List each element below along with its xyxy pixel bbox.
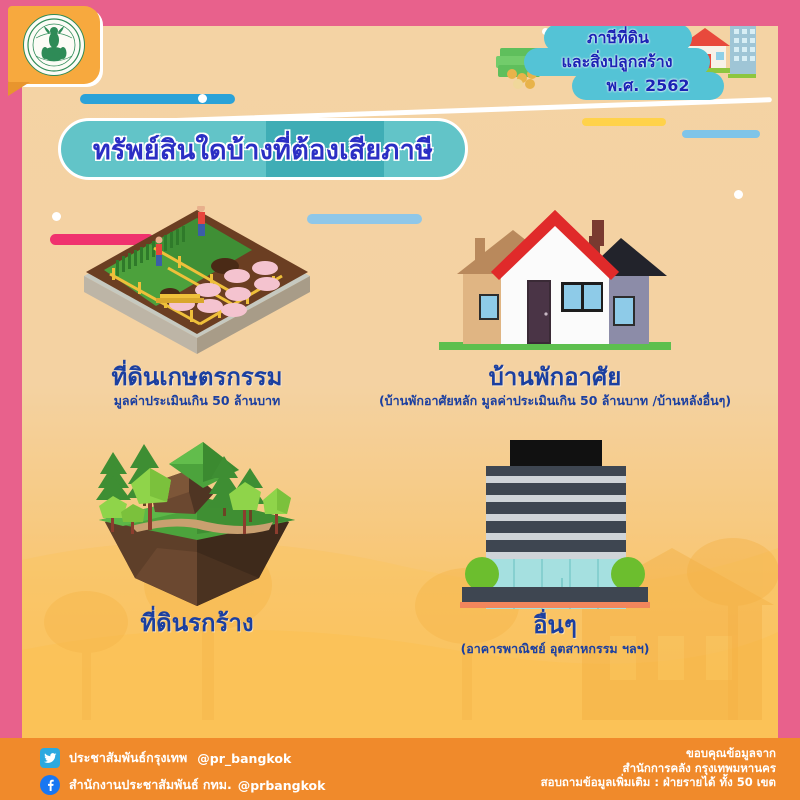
deco-stroke-blue <box>80 94 235 104</box>
bangkok-metropolitan-seal <box>23 14 85 76</box>
asset-label: บ้านพักอาศัย <box>370 364 740 391</box>
frame-right <box>778 0 800 745</box>
deco-dot-4 <box>734 190 743 199</box>
footer-credits: ขอบคุณข้อมูลจาก สำนักการคลัง กรุงเทพมหาน… <box>541 746 776 790</box>
asset-sublabel: (อาคารพาณิชย์ อุตสาหกรรม ฯลฯ) <box>370 641 740 656</box>
asset-item-other-buildings: อื่นๆ (อาคารพาณิชย์ อุตสาหกรรม ฯลฯ) <box>370 430 740 656</box>
asset-sublabel: มูลค่าประเมินเกิน 50 ล้านบาท <box>22 393 382 408</box>
asset-item-agricultural-land: ที่ดินเกษตรกรรม มูลค่าประเมินเกิน 50 ล้า… <box>22 206 382 408</box>
poster-canvas: ภาษีที่ดิน และสิ่งปลูกสร้าง พ.ศ. 2562 ทร… <box>22 0 778 800</box>
twitter-handle: @pr_bangkok <box>197 751 291 766</box>
asset-item-vacant-land: ที่ดินรกร้าง <box>22 430 382 639</box>
act-badge-line3: พ.ศ. 2562 <box>572 72 724 100</box>
deco-stroke-yellow <box>582 118 666 126</box>
house-center <box>491 210 619 344</box>
facebook-account-name: สำนักงานประชาสัมพันธ์ กทม. <box>69 775 232 795</box>
three-houses-illustration <box>370 202 740 364</box>
credit-line-1: ขอบคุณข้อมูลจาก <box>541 746 776 761</box>
office-tower-icon <box>728 24 756 78</box>
main-title-banner: ทรัพย์สินใดบ้างที่ต้องเสียภาษี <box>58 118 468 180</box>
deco-dot-1 <box>198 94 207 103</box>
facebook-handle: @prbangkok <box>238 778 326 793</box>
asset-label: ที่ดินรกร้าง <box>22 610 382 637</box>
footer-facebook-row[interactable]: สำนักงานประชาสัมพันธ์ กทม. @prbangkok <box>40 775 325 795</box>
commercial-building-illustration <box>370 430 740 612</box>
footer-twitter-row[interactable]: ประชาสัมพันธ์กรุงเทพ @pr_bangkok <box>40 748 325 768</box>
footer-social: ประชาสัมพันธ์กรุงเทพ @pr_bangkok สำนักงา… <box>40 748 325 800</box>
asset-items-grid: ที่ดินเกษตรกรรม มูลค่าประเมินเกิน 50 ล้า… <box>22 206 778 706</box>
seal-icon <box>27 18 81 72</box>
facebook-icon <box>40 775 60 795</box>
farmer-1 <box>197 206 205 236</box>
act-badge: ภาษีที่ดิน และสิ่งปลูกสร้าง พ.ศ. 2562 <box>488 22 756 108</box>
twitter-account-name: ประชาสัมพันธ์กรุงเทพ <box>69 748 187 768</box>
page-title: ทรัพย์สินใดบ้างที่ต้องเสียภาษี <box>58 118 468 180</box>
bangkok-logo-tab <box>8 6 100 84</box>
deco-stroke-blue-2 <box>682 130 760 138</box>
frame-top <box>22 0 778 26</box>
credit-line-2: สำนักการคลัง กรุงเทพมหานคร <box>541 761 776 776</box>
floating-island-illustration <box>22 430 382 610</box>
asset-label: อื่นๆ <box>370 612 740 639</box>
asset-label: ที่ดินเกษตรกรรม <box>22 364 382 391</box>
farmer-2 <box>156 237 163 267</box>
footer-bar: ประชาสัมพันธ์กรุงเทพ @pr_bangkok สำนักงา… <box>0 738 800 800</box>
infographic-poster: ภาษีที่ดิน และสิ่งปลูกสร้าง พ.ศ. 2562 ทร… <box>0 0 800 800</box>
isometric-farm-illustration <box>22 206 382 364</box>
asset-item-residential-house: บ้านพักอาศัย (บ้านพักอาศัยหลัก มูลค่าประ… <box>370 202 740 408</box>
credit-line-3: สอบถามข้อมูลเพิ่มเติม : ฝ่ายรายได้ ทั้ง … <box>541 775 776 790</box>
asset-sublabel: (บ้านพักอาศัยหลัก มูลค่าประเมินเกิน 50 ล… <box>370 393 740 408</box>
twitter-icon <box>40 748 60 768</box>
frame-left <box>0 0 22 745</box>
